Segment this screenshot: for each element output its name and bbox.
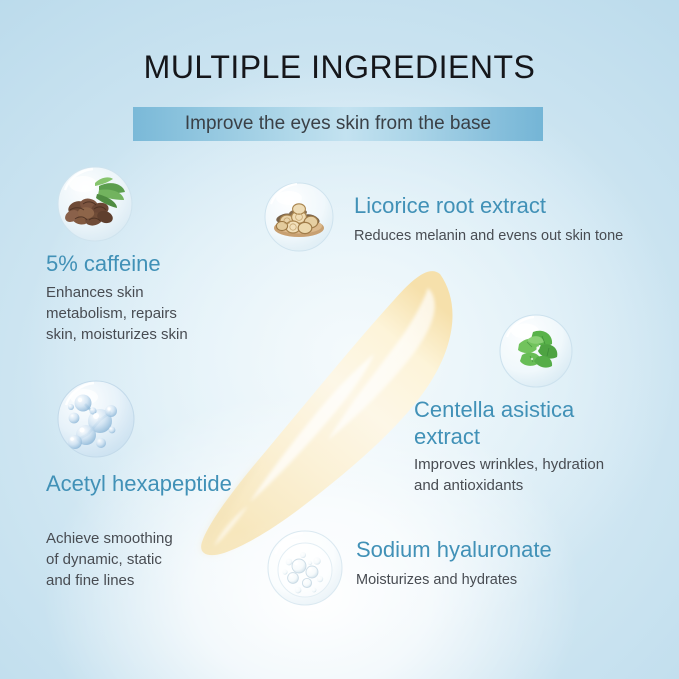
green-leaves-dish-icon — [497, 312, 575, 390]
ingredient-name-centella: Centella asistica extract — [414, 396, 614, 450]
ingredient-name-sodium: Sodium hyaluronate — [356, 536, 636, 563]
ingredient-name-caffeine: 5% caffeine — [46, 250, 276, 277]
ingredients-infographic: MULTIPLE INGREDIENTS Improve the eyes sk… — [0, 0, 679, 679]
blue-molecule-bubbles-dish-icon — [55, 378, 137, 460]
page-title: MULTIPLE INGREDIENTS — [0, 49, 679, 86]
subtitle-text: Improve the eyes skin from the base — [133, 107, 543, 141]
bubble-small — [75, 395, 92, 412]
ingredient-desc-caffeine: Enhances skin metabolism, repairs skin, … — [46, 282, 236, 345]
coffee-beans-dish-icon — [55, 164, 135, 244]
ingredient-desc-acetyl: Achieve smoothing of dynamic, static and… — [46, 528, 226, 591]
ingredient-desc-licorice: Reduces melanin and evens out skin tone — [354, 226, 664, 247]
clear-gel-droplets-dish-icon — [265, 528, 345, 608]
licorice-root-dish-icon — [262, 180, 336, 254]
ingredient-name-licorice: Licorice root extract — [354, 192, 654, 219]
ingredient-desc-centella: Improves wrinkles, hydration and antioxi… — [414, 454, 629, 496]
ingredient-name-acetyl: Acetyl hexapeptide — [46, 470, 236, 497]
swatch-highlight-mid — [250, 354, 374, 502]
ingredient-desc-sodium: Moisturizes and hydrates — [356, 570, 636, 591]
